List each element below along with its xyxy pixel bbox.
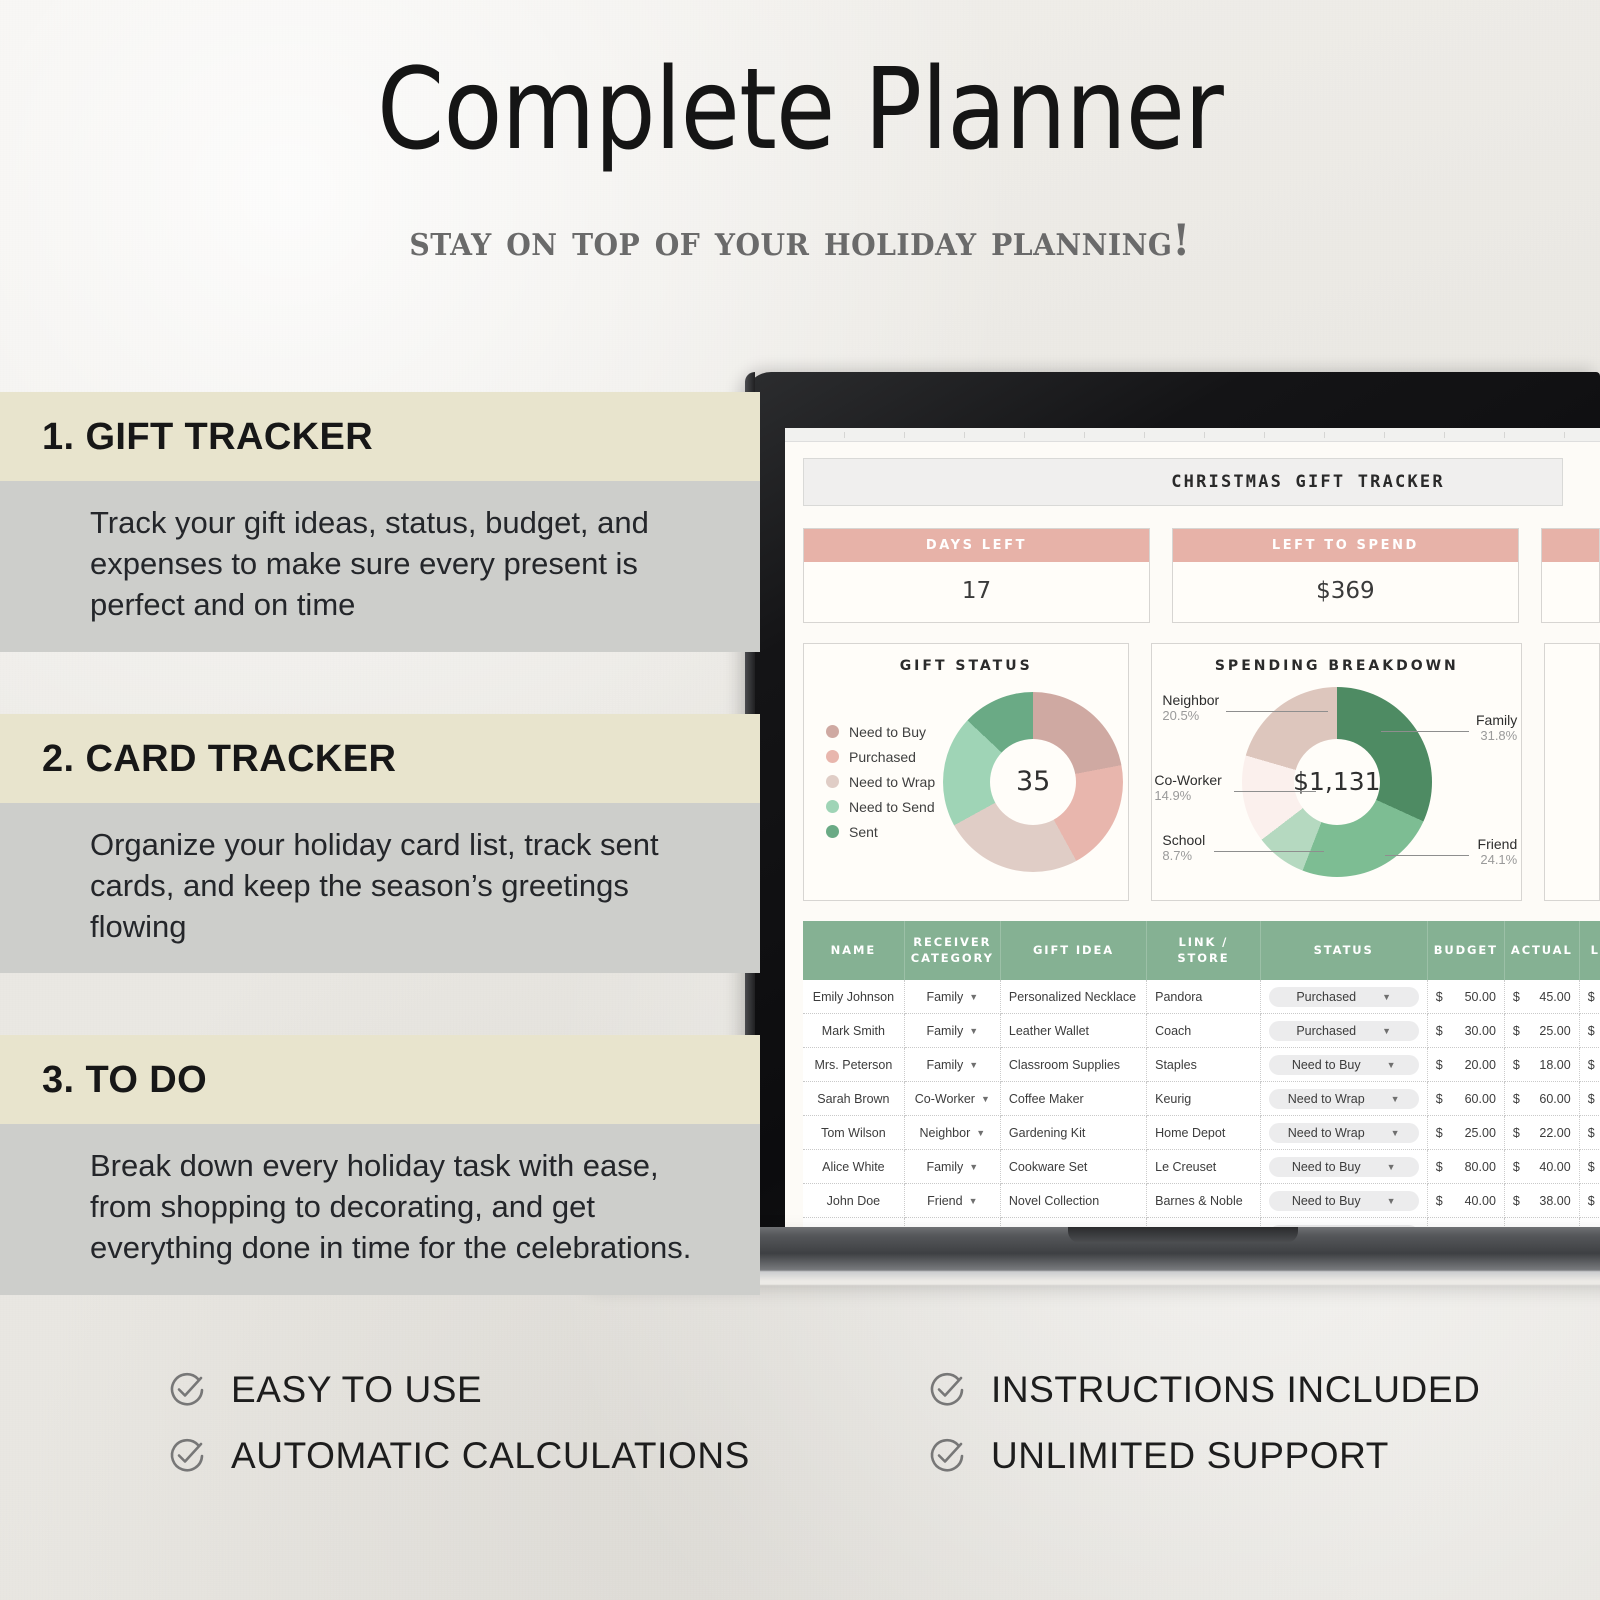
feature-heading-bar: 3. TO DO [0,1035,760,1124]
cell-left[interactable]: $40.00 [1579,1150,1600,1184]
cell-status[interactable]: Need to Buy▼ [1260,1184,1427,1218]
cell-budget[interactable]: $20.00 [1427,1048,1504,1082]
callout-value: 8.7% [1162,848,1205,863]
chevron-down-icon[interactable]: ▼ [1387,1196,1396,1206]
cell-receiver-category[interactable]: Family▼ [904,1048,1000,1082]
callout-school: School 8.7% [1162,832,1205,863]
feature-heading-bar: 1. GIFT TRACKER [0,392,760,481]
cell-actual[interactable]: $14.00 [1504,1218,1579,1227]
callout-leader-line [1381,731,1469,732]
feature-body-text: Track your gift ideas, status, budget, a… [90,503,720,626]
table-row: John DoeFriend▼Novel CollectionBarnes & … [803,1184,1600,1218]
table-row: Mark SmithFamily▼Leather WalletCoachPurc… [803,1014,1600,1048]
circle-check-icon [165,1368,209,1412]
spreadsheet-title: CHRISTMAS GIFT TRACKER [1171,472,1445,492]
legend-item: Need to Send [826,799,935,815]
cell-budget[interactable]: $15.00 [1427,1218,1504,1227]
table-row: Lisa GreenSchool▼Science Experiment KitH… [803,1218,1600,1227]
circle-check-icon [165,1434,209,1478]
legend-swatch-icon [826,725,839,738]
callout-label: Neighbor [1162,692,1219,708]
cell-status[interactable]: Need to Send▼ [1260,1218,1427,1227]
cell-name[interactable]: Sarah Brown [803,1082,904,1116]
kpi-card-third-truncated [1541,528,1600,623]
footer-item-instructions-included: INSTRUCTIONS INCLUDED [925,1368,1481,1412]
feature-panel-card-tracker: 2. CARD TRACKER Organize your holiday ca… [0,714,790,974]
spreadsheet-title-bar: CHRISTMAS GIFT TRACKER [803,458,1563,506]
cell-left[interactable]: $1.00 [1579,1218,1600,1227]
legend-item: Need to Buy [826,724,935,740]
callout-label: Co-Worker [1154,772,1221,788]
kpi-card-days-left: DAYS LEFT 17 [803,528,1150,623]
feature-body-text: Organize your holiday card list, track s… [90,825,720,948]
cell-receiver-category[interactable]: Co-Worker▼ [904,1082,1000,1116]
cell-actual[interactable]: $18.00 [1504,1048,1579,1082]
cell-gift-idea[interactable]: Coffee Maker [1000,1082,1146,1116]
callout-label: Family [1476,712,1517,728]
cell-left[interactable]: $2.00 [1579,1048,1600,1082]
callout-value: 31.8% [1476,728,1517,743]
cell-left[interactable]: $5.00 [1579,980,1600,1014]
cell-link-store[interactable]: Coach [1147,1014,1261,1048]
chevron-down-icon[interactable]: ▼ [1387,1060,1396,1070]
legend-label: Purchased [849,749,916,765]
cell-name[interactable]: Alice White [803,1150,904,1184]
chevron-down-icon[interactable]: ▼ [969,1196,978,1206]
callout-label: School [1162,832,1205,848]
kpi-value: $369 [1173,562,1518,622]
chevron-down-icon[interactable]: ▼ [1391,1128,1400,1138]
cell-budget[interactable]: $50.00 [1427,980,1504,1014]
table-row: Mrs. PetersonFamily▼Classroom SuppliesSt… [803,1048,1600,1082]
feature-body-bar: Track your gift ideas, status, budget, a… [0,481,760,652]
cell-status[interactable]: Need to Wrap▼ [1260,1082,1427,1116]
circle-check-icon [925,1434,969,1478]
kpi-value: 17 [804,562,1149,622]
donut-center-value: $1,131 [1294,739,1380,825]
laptop-screen: CHRISTMAS GIFT TRACKER DAYS LEFT 17 LEFT… [785,428,1600,1227]
chart-legend: Need to Buy Purchased Need to Wrap [804,715,935,849]
cell-budget[interactable]: $30.00 [1427,1014,1504,1048]
legend-item: Need to Wrap [826,774,935,790]
cell-actual[interactable]: $40.00 [1504,1150,1579,1184]
feature-body-bar: Organize your holiday card list, track s… [0,803,760,974]
panel-spacer [0,973,790,1035]
cell-link-store[interactable]: Pandora [1147,980,1261,1014]
legend-swatch-icon [826,825,839,838]
cell-status[interactable]: Need to Wrap▼ [1260,1116,1427,1150]
callout-leader-line [1226,711,1328,712]
kpi-label: DAYS LEFT [804,529,1149,562]
spreadsheet-canvas: CHRISTMAS GIFT TRACKER DAYS LEFT 17 LEFT… [785,442,1600,1227]
chevron-down-icon[interactable]: ▼ [1382,1026,1391,1036]
chart-spending-breakdown: SPENDING BREAKDOWN $1,131 Neighbor 20.5% [1151,643,1522,901]
chart-title: GIFT STATUS [804,658,1128,674]
cell-name[interactable]: Emily Johnson [803,980,904,1014]
cell-actual[interactable]: $25.00 [1504,1014,1579,1048]
chart-row: GIFT STATUS Need to Buy Purchased [803,643,1600,901]
cell-link-store[interactable]: Le Creuset [1147,1150,1261,1184]
chevron-down-icon[interactable]: ▼ [1382,992,1391,1002]
callout-friend: Friend 24.1% [1478,836,1518,867]
footer-column-right: INSTRUCTIONS INCLUDED UNLIMITED SUPPORT [250,1368,1481,1500]
callout-family: Family 31.8% [1476,712,1517,743]
cell-status[interactable]: Need to Buy▼ [1260,1150,1427,1184]
footer-item-label: INSTRUCTIONS INCLUDED [991,1369,1481,1411]
col-receiver-category[interactable]: RECEIVER CATEGORY [904,921,1000,980]
chevron-down-icon[interactable]: ▼ [1387,1162,1396,1172]
legend-label: Need to Send [849,799,935,815]
cell-actual[interactable]: $60.00 [1504,1082,1579,1116]
chevron-down-icon[interactable]: ▼ [969,1162,978,1172]
callout-value: 14.9% [1154,788,1221,803]
chevron-down-icon[interactable]: ▼ [969,1060,978,1070]
callout-leader-line [1385,855,1469,856]
legend-swatch-icon [826,775,839,788]
cell-name[interactable]: Tom Wilson [803,1116,904,1150]
cell-actual[interactable]: $38.00 [1504,1184,1579,1218]
callout-label: Friend [1478,836,1518,852]
cell-budget[interactable]: $25.00 [1427,1116,1504,1150]
footer-item-unlimited-support: UNLIMITED SUPPORT [925,1434,1481,1478]
legend-label: Sent [849,824,878,840]
donut-center-value: 35 [990,739,1076,825]
cell-name[interactable]: Lisa Green [803,1218,904,1227]
table-row: Alice WhiteFamily▼Cookware SetLe Creuset… [803,1150,1600,1184]
col-budget[interactable]: BUDGET [1427,921,1504,980]
donut-chart-gift-status: 35 [935,692,1123,872]
cell-left[interactable]: $0.00 [1579,1082,1600,1116]
callout-leader-line [1234,791,1316,792]
cell-gift-idea[interactable]: Novel Collection [1000,1184,1146,1218]
cell-left[interactable]: $5.00 [1579,1014,1600,1048]
feature-heading: 3. TO DO [42,1059,760,1102]
cell-budget[interactable]: $40.00 [1427,1184,1504,1218]
cell-link-store[interactable]: Home Depot [1147,1218,1261,1227]
cell-status[interactable]: Purchased▼ [1260,980,1427,1014]
table-row: Emily JohnsonFamily▼Personalized Necklac… [803,980,1600,1014]
chart-gift-status: GIFT STATUS Need to Buy Purchased [803,643,1129,901]
table-body: Emily JohnsonFamily▼Personalized Necklac… [803,980,1600,1227]
cell-actual[interactable]: $45.00 [1504,980,1579,1014]
footer-checklist: EASY TO USE AUTOMATIC CALCULATIONS INSTR… [0,1368,1600,1500]
feature-panel-gift-tracker: 1. GIFT TRACKER Track your gift ideas, s… [0,392,790,652]
cell-receiver-category[interactable]: Family▼ [904,980,1000,1014]
donut-ring: $1,131 [1242,687,1432,877]
laptop-lid: CHRISTMAS GIFT TRACKER DAYS LEFT 17 LEFT… [745,372,1600,1227]
cell-actual[interactable]: $22.00 [1504,1116,1579,1150]
feature-panel-to-do: 3. TO DO Break down every holiday task w… [0,1035,790,1295]
callout-co-worker: Co-Worker 14.9% [1154,772,1221,803]
cell-left[interactable]: $3.00 [1579,1116,1600,1150]
table-row: Sarah BrownCo-Worker▼Coffee MakerKeurigN… [803,1082,1600,1116]
callout-neighbor: Neighbor 20.5% [1162,692,1219,723]
feature-heading-bar: 2. CARD TRACKER [0,714,760,803]
cell-gift-idea[interactable]: Personalized Necklace [1000,980,1146,1014]
chevron-down-icon[interactable]: ▼ [969,1026,978,1036]
cell-budget[interactable]: $80.00 [1427,1150,1504,1184]
feature-body-bar: Break down every holiday task with ease,… [0,1124,760,1295]
kpi-card-row: DAYS LEFT 17 LEFT TO SPEND $369 [803,528,1600,623]
cell-gift-idea[interactable]: Classroom Supplies [1000,1048,1146,1082]
cell-link-store[interactable]: Home Depot [1147,1116,1261,1150]
cell-link-store[interactable]: Barnes & Noble [1147,1184,1261,1218]
chart-title: SPENDING BREAKDOWN [1152,658,1521,674]
page-subtitle: Stay on top of your holiday planning! [48,216,1552,266]
table-row: Tom WilsonNeighbor▼Gardening KitHome Dep… [803,1116,1600,1150]
cell-status[interactable]: Need to Buy▼ [1260,1048,1427,1082]
cell-gift-idea[interactable]: Cookware Set [1000,1150,1146,1184]
callout-value: 20.5% [1162,708,1219,723]
cell-receiver-category[interactable]: Friend▼ [904,1184,1000,1218]
spreadsheet-column-ruler [785,428,1600,442]
chart-third-truncated [1544,643,1600,901]
col-link-store[interactable]: LINK / STORE [1147,921,1261,980]
legend-label: Need to Buy [849,724,926,740]
kpi-card-left-to-spend: LEFT TO SPEND $369 [1172,528,1519,623]
chevron-down-icon[interactable]: ▼ [969,992,978,1002]
cell-status[interactable]: Purchased▼ [1260,1014,1427,1048]
cell-receiver-category[interactable]: School▼ [904,1218,1000,1227]
panel-spacer [0,652,790,714]
legend-label: Need to Wrap [849,774,935,790]
cell-link-store[interactable]: Staples [1147,1048,1261,1082]
legend-item: Purchased [826,749,935,765]
feature-body-text: Break down every holiday task with ease,… [90,1146,720,1269]
cell-gift-idea[interactable]: Leather Wallet [1000,1014,1146,1048]
feature-panel-list: 1. GIFT TRACKER Track your gift ideas, s… [0,392,790,1295]
chevron-down-icon[interactable]: ▼ [981,1094,990,1104]
circle-check-icon [925,1368,969,1412]
cell-receiver-category[interactable]: Family▼ [904,1014,1000,1048]
cell-link-store[interactable]: Keurig [1147,1082,1261,1116]
feature-heading: 2. CARD TRACKER [42,738,760,781]
cell-name[interactable]: Mrs. Peterson [803,1048,904,1082]
callout-leader-line [1214,851,1324,852]
kpi-value [1542,562,1599,622]
legend-item: Sent [826,824,935,840]
legend-swatch-icon [826,750,839,763]
footer-item-label: UNLIMITED SUPPORT [991,1435,1389,1477]
chevron-down-icon[interactable]: ▼ [976,1128,985,1138]
col-name[interactable]: NAME [803,921,904,980]
page-title: Complete Planner [112,52,1488,170]
page-header: Complete Planner Stay on top of your hol… [0,0,1600,266]
cell-left[interactable]: $2.00 [1579,1184,1600,1218]
kpi-label [1542,529,1599,562]
cell-receiver-category[interactable]: Family▼ [904,1150,1000,1184]
donut-ring: 35 [943,692,1123,872]
feature-heading: 1. GIFT TRACKER [42,416,760,459]
cell-budget[interactable]: $60.00 [1427,1082,1504,1116]
col-left[interactable]: LEFT [1579,921,1600,980]
cell-gift-idea[interactable]: Science Experiment Kit [1000,1218,1146,1227]
laptop-mockup: CHRISTMAS GIFT TRACKER DAYS LEFT 17 LEFT… [745,372,1600,1227]
cell-name[interactable]: John Doe [803,1184,904,1218]
cell-gift-idea[interactable]: Gardening Kit [1000,1116,1146,1150]
legend-swatch-icon [826,800,839,813]
kpi-label: LEFT TO SPEND [1173,529,1518,562]
col-status[interactable]: STATUS [1260,921,1427,980]
donut-chart-spending: $1,131 [1242,687,1432,877]
col-gift-idea[interactable]: GIFT IDEA [1000,921,1146,980]
callout-value: 24.1% [1478,852,1518,867]
cell-name[interactable]: Mark Smith [803,1014,904,1048]
gift-tracker-table: NAME RECEIVER CATEGORY GIFT IDEA LINK / … [803,921,1600,1227]
cell-receiver-category[interactable]: Neighbor▼ [904,1116,1000,1150]
col-actual[interactable]: ACTUAL [1504,921,1579,980]
chevron-down-icon[interactable]: ▼ [1391,1094,1400,1104]
table-header-row: NAME RECEIVER CATEGORY GIFT IDEA LINK / … [803,921,1600,980]
